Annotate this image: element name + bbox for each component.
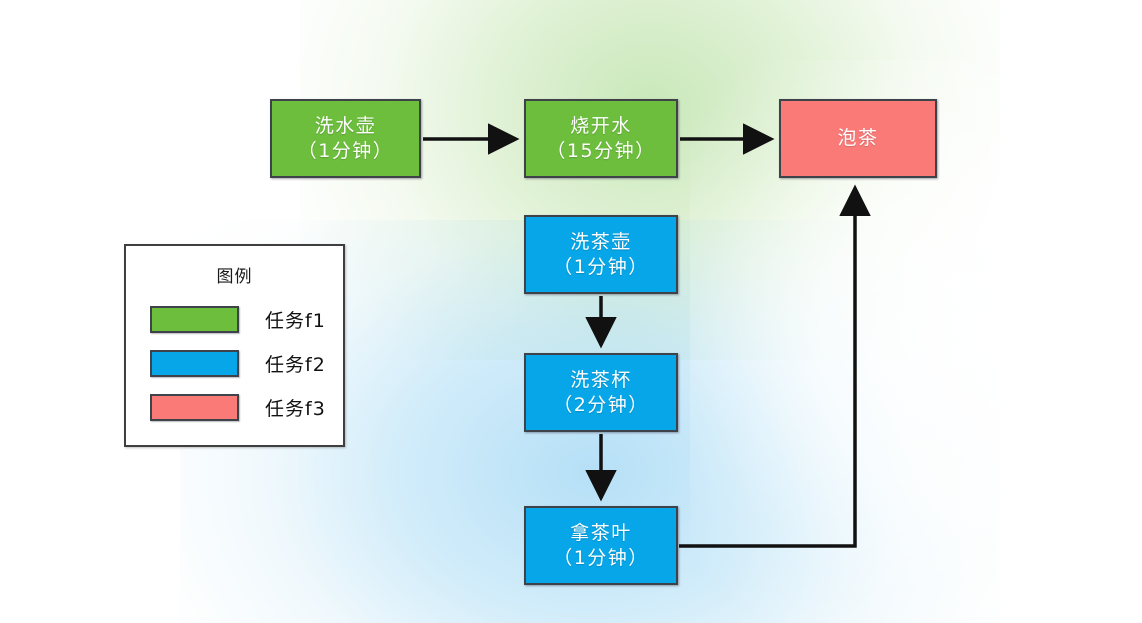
node-duration: （1分钟） [553,546,649,571]
legend-label: 任务f3 [265,394,326,421]
legend-item-task-f1: 任务f1 [150,305,330,333]
node-duration: （1分钟） [298,139,394,164]
node-duration: （1分钟） [553,255,649,280]
node-boil-water[interactable]: 烧开水 （15分钟） [524,99,678,178]
node-wash-teacup[interactable]: 洗茶杯 （2分钟） [524,353,678,432]
legend-swatch-red [150,394,239,421]
legend-swatch-blue [150,350,239,377]
node-wash-teapot[interactable]: 洗茶壶 （1分钟） [524,215,678,294]
node-duration: （15分钟） [546,139,655,164]
legend-panel: 图例 任务f1 任务f2 任务f3 [124,244,345,447]
node-title: 拿茶叶 [570,521,632,546]
legend-label: 任务f2 [265,350,326,377]
legend-title: 图例 [126,262,343,287]
node-title: 烧开水 [570,114,632,139]
node-get-tea-leaves[interactable]: 拿茶叶 （1分钟） [524,506,678,585]
flowchart-canvas: 洗水壶 （1分钟） 烧开水 （15分钟） 泡茶 洗茶壶 （1分钟） 洗茶杯 （2… [0,0,1142,623]
node-title: 洗水壶 [315,114,377,139]
legend-label: 任务f1 [265,306,326,333]
node-duration: （2分钟） [553,393,649,418]
node-title: 洗茶杯 [570,368,632,393]
legend-swatch-green [150,306,239,333]
legend-item-task-f3: 任务f3 [150,393,330,421]
node-title: 泡茶 [837,126,878,151]
legend-item-task-f2: 任务f2 [150,349,330,377]
edge-get-tea-leaves-to-make-tea [679,188,855,546]
node-make-tea[interactable]: 泡茶 [779,99,937,178]
node-wash-kettle[interactable]: 洗水壶 （1分钟） [270,99,421,178]
node-title: 洗茶壶 [570,230,632,255]
